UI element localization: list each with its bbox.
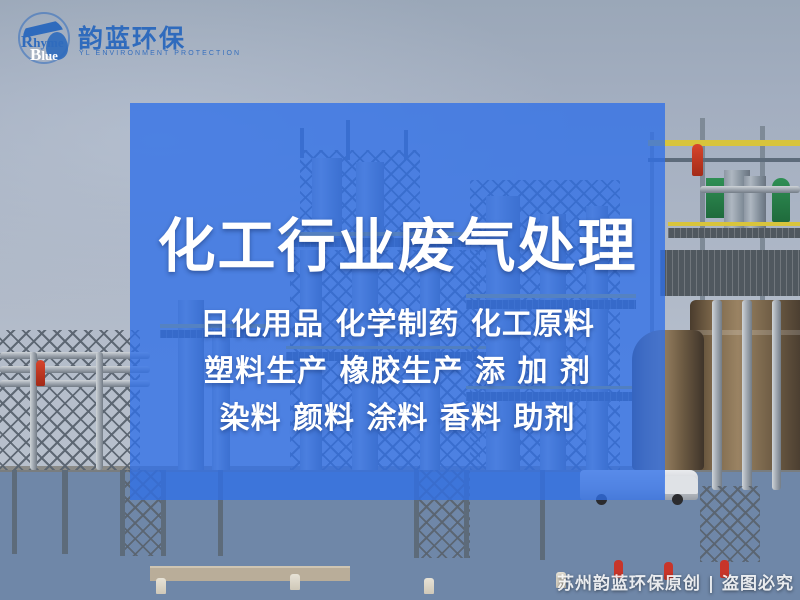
support-column [120, 470, 125, 556]
green-equipment-box [706, 178, 726, 218]
support-tower [700, 486, 760, 562]
service-category-line: 日化用品 化学制药 化工原料 [130, 301, 665, 348]
support-column [62, 470, 68, 554]
logo-blue-initial: B [30, 45, 41, 64]
concrete-bollard [290, 574, 300, 590]
concrete-bollard [424, 578, 434, 594]
red-vent-stack [692, 144, 703, 176]
logo-mark-blue-text: Blue [30, 45, 58, 65]
green-equipment-column [772, 178, 790, 222]
concrete-bollard [156, 578, 166, 594]
logo-emblem-icon: Rhyme Blue [18, 12, 70, 64]
pipe-vertical [772, 300, 781, 490]
walkway-grate [668, 228, 800, 238]
yellow-handrail [668, 222, 800, 226]
pipe-vertical [712, 300, 722, 490]
concrete-curb [150, 566, 350, 581]
service-category-list: 日化用品 化学制药 化工原料 塑料生产 橡胶生产 添 加 剂 染料 颜料 涂料 … [130, 301, 665, 442]
pipe-horizontal [0, 366, 150, 373]
hero-text-block: 化工行业废气处理 日化用品 化学制药 化工原料 塑料生产 橡胶生产 添 加 剂 … [130, 103, 665, 500]
promotional-banner: 化工行业废气处理 日化用品 化学制药 化工原料 塑料生产 橡胶生产 添 加 剂 … [0, 0, 800, 600]
equipment-deck [660, 250, 800, 296]
pipe-horizontal [700, 186, 800, 193]
service-category-line: 染料 颜料 涂料 香料 助剂 [130, 395, 665, 442]
crossbeam [648, 158, 800, 162]
van-cab [664, 476, 698, 494]
pipe-rack-lattice-left [0, 330, 140, 470]
copyright-watermark: 苏州韵蓝环保原创 | 盗图必究 [557, 569, 794, 594]
pipe-vertical [96, 352, 103, 470]
pipe-vertical [742, 300, 752, 490]
support-column [12, 470, 17, 554]
pipe-horizontal [0, 380, 150, 387]
service-category-line: 塑料生产 橡胶生产 添 加 剂 [130, 348, 665, 395]
company-logo[interactable]: Rhyme Blue 韵蓝环保 YL ENVIRONMENT PROTECTIO… [18, 10, 188, 66]
red-valve-marker [36, 360, 45, 386]
pipe-horizontal [0, 352, 150, 359]
yellow-crossbeam [648, 140, 800, 146]
van-wheel [672, 494, 683, 505]
logo-blue-rest: lue [41, 48, 58, 63]
page-title: 化工行业废气处理 [130, 215, 665, 277]
company-name-en: YL ENVIRONMENT PROTECTION [79, 50, 241, 57]
